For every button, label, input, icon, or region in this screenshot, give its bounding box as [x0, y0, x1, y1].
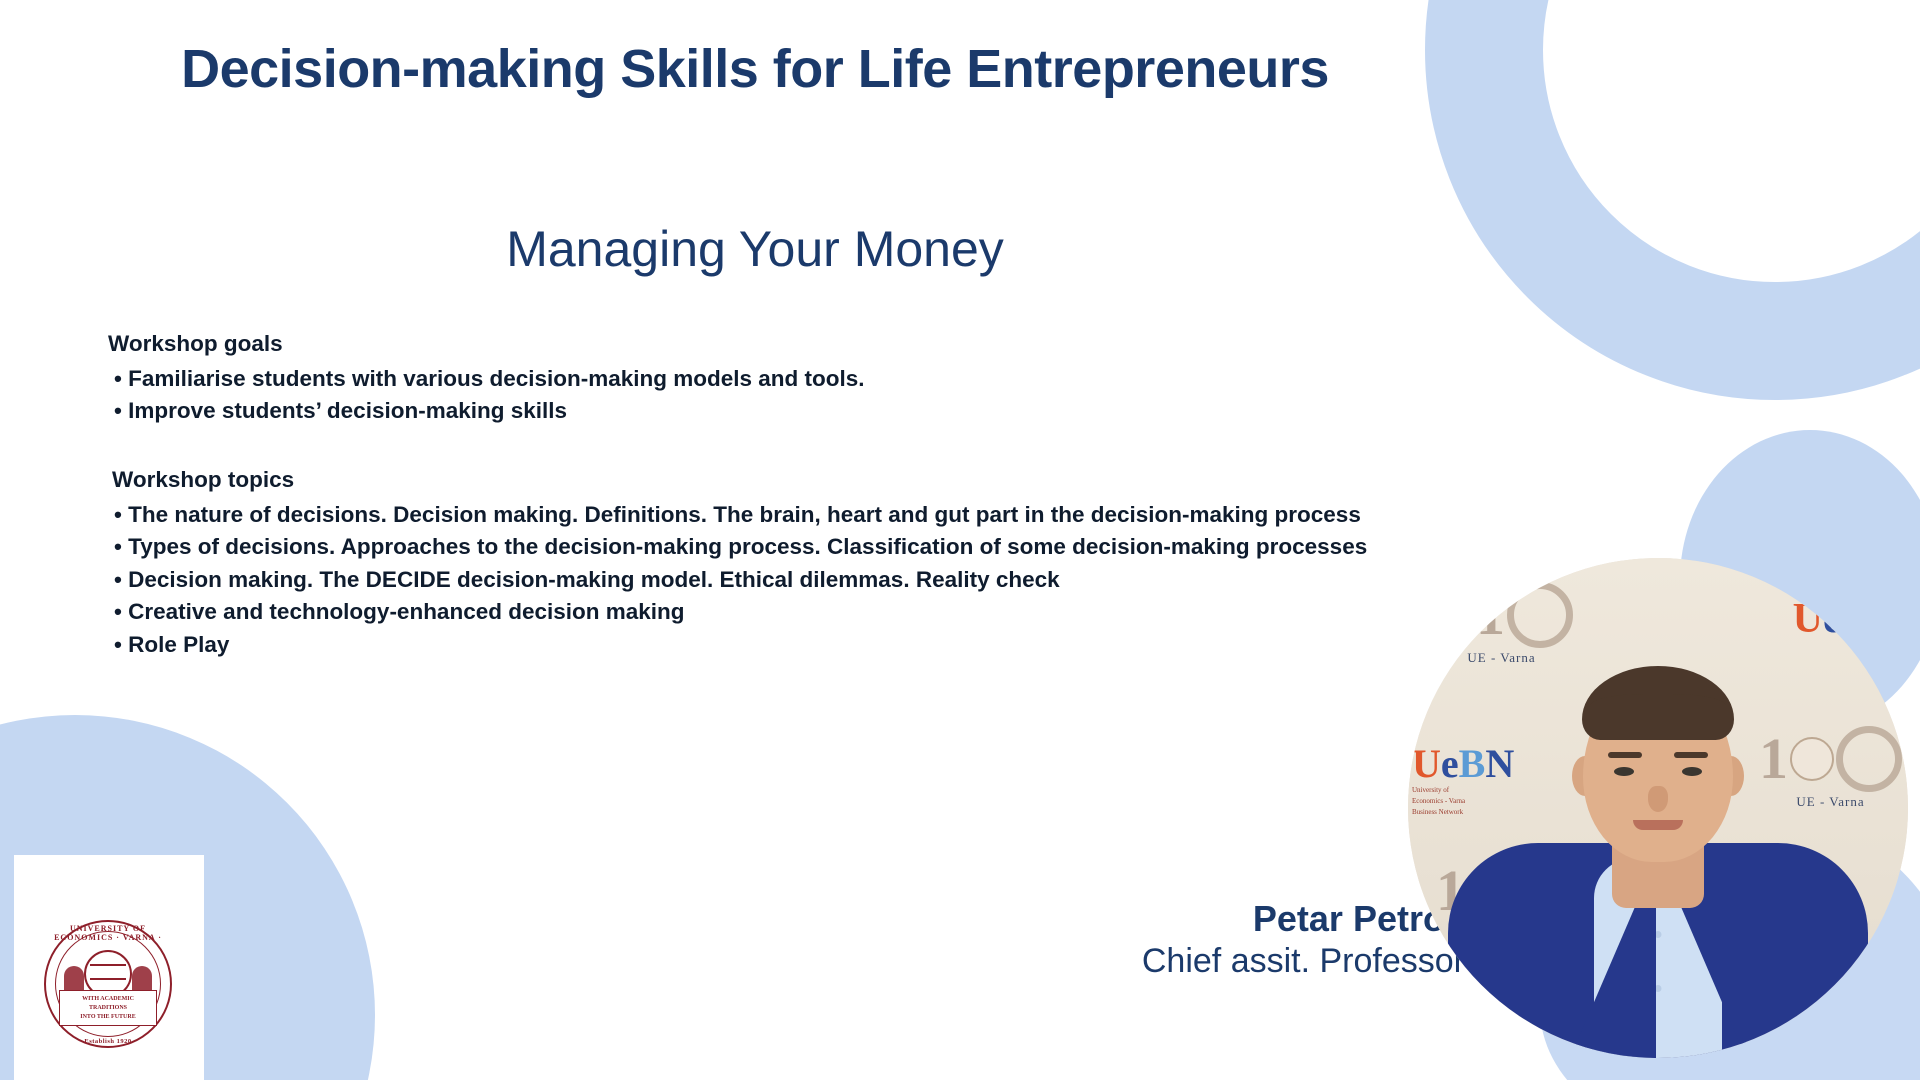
- eye-right: [1682, 767, 1702, 776]
- list-item: • Decision making. The DECIDE decision-m…: [108, 564, 1478, 597]
- eyebrow-right: [1674, 752, 1708, 758]
- university-seal-logo-icon: UNIVERSITY OF ECONOMICS · VARNA · WITH A…: [44, 920, 172, 1048]
- seal-banner-line-2: TRADITIONS: [89, 1004, 127, 1013]
- presenter-avatar: 1 UE - Varna UeBN UeBN University of Eco…: [1408, 558, 1908, 1058]
- decorative-ring-top-right: [1425, 0, 1920, 400]
- seal-top-text: UNIVERSITY OF ECONOMICS · VARNA ·: [44, 924, 172, 942]
- list-item: • Improve students’ decision-making skil…: [108, 395, 1478, 428]
- presenter-role: Chief assit. Professor: [995, 941, 1465, 982]
- seal-banner-line-1: WITH ACADEMIC: [82, 995, 134, 1004]
- centenary-logo-icon: 1 UE - Varna: [1430, 582, 1573, 666]
- slide-canvas: Decision-making Skills for Life Entrepre…: [0, 0, 1920, 1080]
- list-item: • Familiarise students with various deci…: [108, 363, 1478, 396]
- eyebrow-left: [1608, 752, 1642, 758]
- network-logo-icon: UeBN: [1793, 598, 1900, 640]
- page-subtitle: Managing Your Money: [140, 222, 1370, 277]
- nose: [1648, 786, 1668, 812]
- list-item: • The nature of decisions. Decision maki…: [108, 499, 1478, 532]
- seal-banner-line-3: INTO THE FUTURE: [80, 1013, 135, 1022]
- workshop-goals-heading: Workshop goals: [108, 328, 1478, 361]
- eye-left: [1614, 767, 1634, 776]
- presenter-figure: [1448, 658, 1868, 1058]
- content-body: Workshop goals • Familiarise students wi…: [108, 328, 1478, 662]
- seal-bottom-text: Establish 1920: [44, 1038, 172, 1045]
- presenter-block: Petar Petrov Chief assit. Professor: [995, 898, 1465, 982]
- seal-banner: WITH ACADEMIC TRADITIONS INTO THE FUTURE: [59, 990, 157, 1026]
- presenter-name: Petar Petrov: [995, 898, 1465, 939]
- list-item: • Creative and technology-enhanced decis…: [108, 596, 1478, 629]
- workshop-topics-heading: Workshop topics: [112, 464, 1478, 497]
- hair: [1582, 666, 1734, 740]
- list-item: • Role Play: [108, 629, 1478, 662]
- section-spacer: [108, 428, 1478, 464]
- mouth: [1633, 820, 1683, 830]
- page-title: Decision-making Skills for Life Entrepre…: [140, 38, 1370, 102]
- list-item: • Types of decisions. Approaches to the …: [108, 531, 1478, 564]
